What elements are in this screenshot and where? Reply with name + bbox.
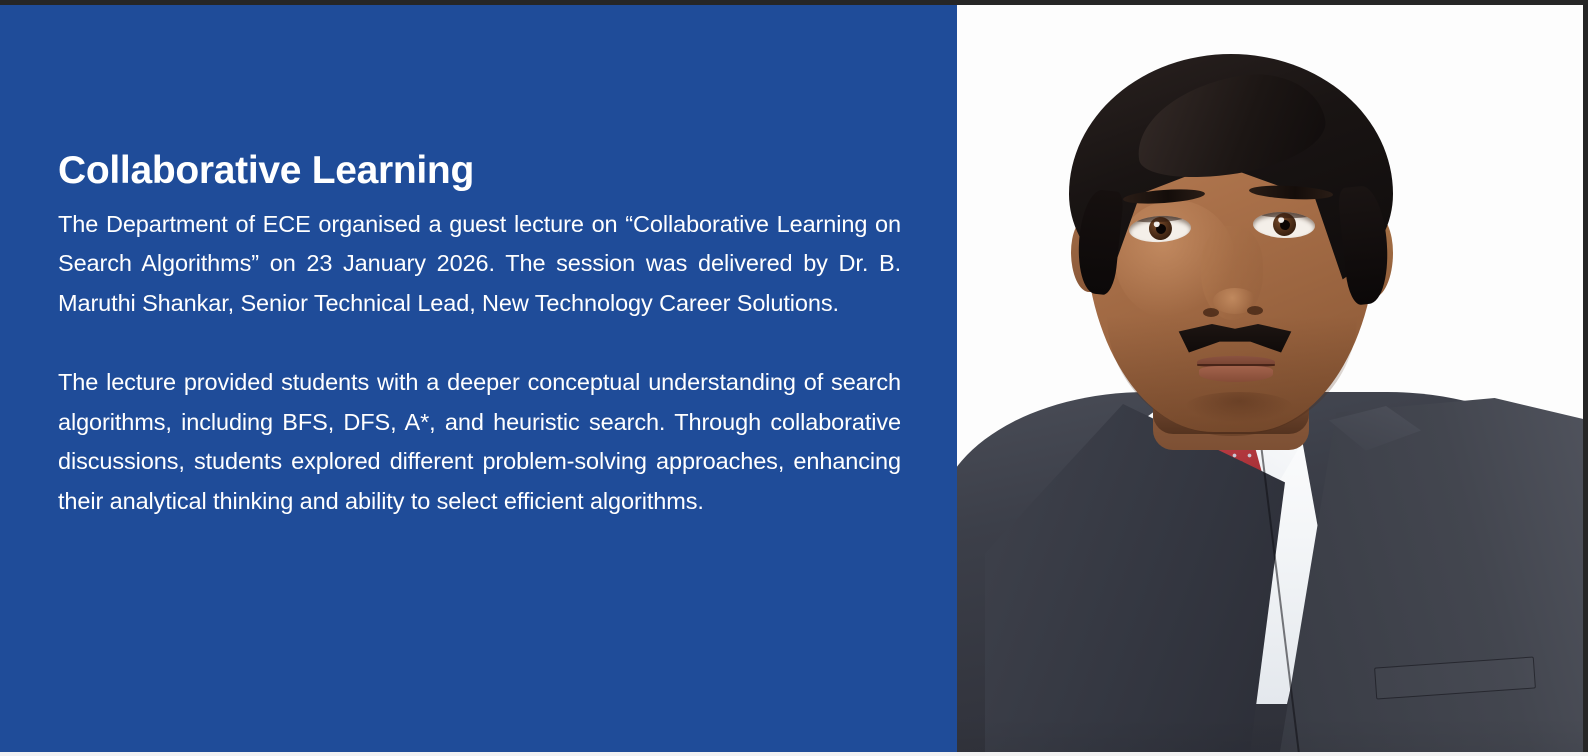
paragraph-spacer bbox=[58, 323, 901, 363]
slide-root: Collaborative Learning The Department of… bbox=[0, 0, 1588, 756]
eyelid-right bbox=[1253, 211, 1315, 219]
photo-bottom-shadow bbox=[957, 716, 1588, 756]
chin-shadow bbox=[1185, 392, 1293, 422]
text-panel: Collaborative Learning The Department of… bbox=[0, 0, 957, 756]
mouth-line bbox=[1197, 364, 1275, 366]
portrait-illustration bbox=[957, 0, 1588, 756]
nostril-left bbox=[1203, 308, 1219, 317]
paragraph-intro: The Department of ECE organised a guest … bbox=[58, 205, 901, 324]
speaker-photo bbox=[957, 0, 1588, 756]
nostril-right bbox=[1247, 306, 1263, 315]
text-content-block: Collaborative Learning The Department of… bbox=[58, 150, 901, 521]
top-border-rule bbox=[0, 0, 1588, 5]
page-title: Collaborative Learning bbox=[58, 150, 901, 193]
paragraph-details: The lecture provided students with a dee… bbox=[58, 363, 901, 521]
right-border-rule bbox=[1583, 0, 1588, 756]
bottom-border-rule bbox=[0, 752, 1588, 756]
lower-lip bbox=[1199, 366, 1273, 382]
